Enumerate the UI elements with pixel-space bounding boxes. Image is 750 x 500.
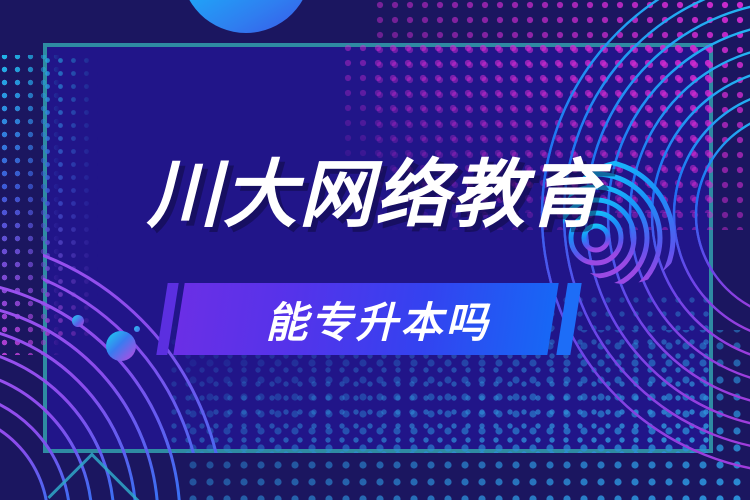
subtitle-banner: 能专升本吗 [160,283,590,355]
page-subtitle: 能专升本吗 [160,283,590,355]
title-block: 川大网络教育 [0,158,750,232]
page-title: 川大网络教育 [147,158,603,232]
fingerprint-swirl-icon [0,0,750,500]
poster-canvas: 川大网络教育 能专升本吗 [0,0,750,500]
